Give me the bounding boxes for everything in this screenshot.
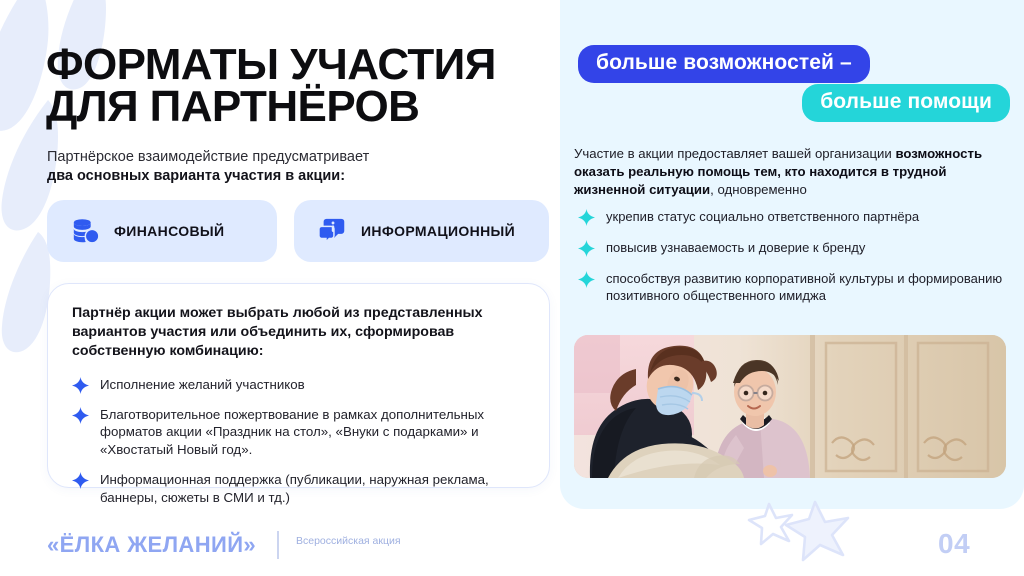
- right-panel-bullets: укрепив статус социально ответственного …: [578, 208, 1008, 305]
- list-item-text: Благотворительное пожертвование в рамках…: [100, 406, 525, 459]
- page-title: ФОРМАТЫ УЧАСТИЯ ДЛЯ ПАРТНЁРОВ: [46, 44, 556, 128]
- footer-logo: «ЁЛКА ЖЕЛАНИЙ»: [47, 532, 256, 558]
- four-point-star-icon: [578, 240, 595, 257]
- list-item: укрепив статус социально ответственного …: [578, 208, 1008, 226]
- right-panel-lead: Участие в акции предоставляет вашей орга…: [574, 145, 1004, 199]
- four-point-star-icon: [578, 209, 595, 226]
- option-financial-label: ФИНАНСОВЫЙ: [114, 223, 224, 239]
- info-card-bullets: Исполнение желаний участников Благотвори…: [72, 376, 525, 507]
- list-item-text: повысив узнаваемость и доверие к бренду: [606, 239, 865, 256]
- lead-normal-text: Партнёрское взаимодействие предусматрива…: [47, 149, 369, 165]
- info-card: Партнёр акции может выбрать любой из пре…: [47, 283, 550, 488]
- photo-illustration: [574, 335, 1006, 478]
- four-point-star-icon: [72, 472, 89, 489]
- badge-more-opportunities: больше возможностей –: [578, 45, 870, 83]
- lead-bold-text: два основных варианта участия в акции:: [47, 168, 345, 184]
- left-column: ФОРМАТЫ УЧАСТИЯ ДЛЯ ПАРТНЁРОВ Партнёрско…: [0, 0, 560, 576]
- list-item: повысив узнаваемость и доверие к бренду: [578, 239, 1008, 257]
- coins-icon: [71, 216, 101, 246]
- info-bubble-icon: [318, 216, 348, 246]
- list-item: Исполнение желаний участников: [72, 376, 525, 394]
- slide-root: ФОРМАТЫ УЧАСТИЯ ДЛЯ ПАРТНЁРОВ Партнёрско…: [0, 0, 1024, 576]
- option-financial[interactable]: ФИНАНСОВЫЙ: [47, 200, 277, 262]
- participation-options: ФИНАНСОВЫЙ ИНФОРМАЦИОННЫЙ: [47, 200, 549, 262]
- list-item: способствуя развитию корпоративной культ…: [578, 270, 1008, 305]
- list-item-text: укрепив статус социально ответственного …: [606, 208, 919, 225]
- lead-paragraph: Партнёрское взаимодействие предусматрива…: [47, 148, 517, 187]
- option-informational[interactable]: ИНФОРМАЦИОННЫЙ: [294, 200, 549, 262]
- list-item: Благотворительное пожертвование в рамках…: [72, 406, 525, 459]
- four-point-star-icon: [578, 271, 595, 288]
- right-lead-part1: Участие в акции предоставляет вашей орга…: [574, 146, 895, 161]
- badge-more-help: больше помощи: [802, 84, 1010, 122]
- right-lead-part2: , одновременно: [710, 182, 807, 197]
- list-item-text: Информационная поддержка (публикации, на…: [100, 471, 525, 507]
- badge-row-top: больше возможностей –: [578, 45, 870, 83]
- option-informational-label: ИНФОРМАЦИОННЫЙ: [361, 223, 515, 239]
- badge-row-bottom: больше помощи: [802, 84, 1010, 122]
- decorative-stars: [745, 498, 865, 576]
- page-number: 04: [938, 528, 970, 560]
- right-panel: больше возможностей – больше помощи Учас…: [560, 0, 1024, 509]
- list-item-text: Исполнение желаний участников: [100, 376, 305, 394]
- four-point-star-icon: [72, 377, 89, 394]
- page-title-line-2: ДЛЯ ПАРТНЁРОВ: [46, 86, 556, 128]
- four-point-star-icon: [72, 407, 89, 424]
- footer-divider: [277, 531, 279, 559]
- list-item-text: способствуя развитию корпоративной культ…: [606, 270, 1008, 305]
- list-item: Информационная поддержка (публикации, на…: [72, 471, 525, 507]
- footer-subtitle: Всероссийская акция: [296, 535, 426, 548]
- info-card-title: Партнёр акции может выбрать любой из пре…: [72, 304, 525, 361]
- photo-volunteer-helping-child: [574, 335, 1006, 478]
